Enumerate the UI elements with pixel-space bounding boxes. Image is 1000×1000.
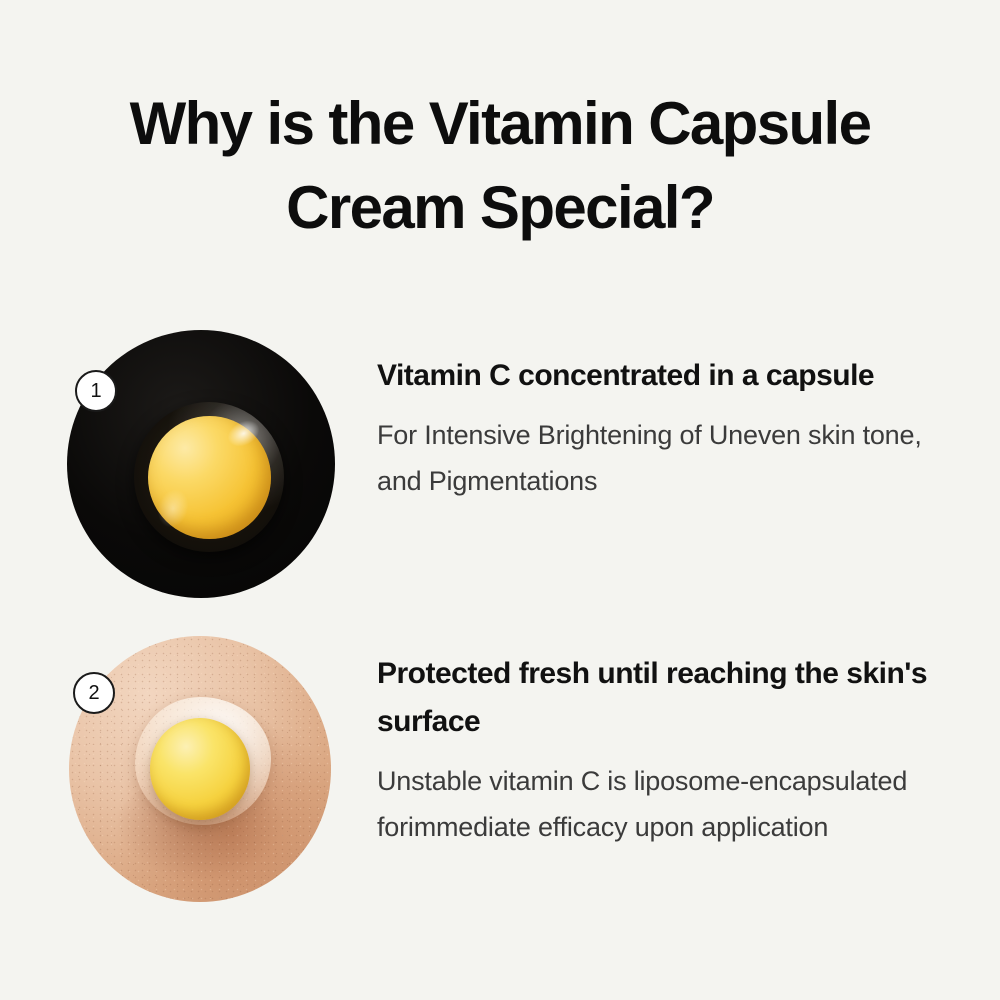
feature-1-heading: Vitamin C concentrated in a capsule xyxy=(377,352,937,400)
step-badge-1: 1 xyxy=(75,370,117,412)
vitamin-capsule-on-black-photo xyxy=(67,330,335,598)
feature-2-heading: Protected fresh until reaching the skin'… xyxy=(377,650,937,746)
capsule-shell xyxy=(134,402,284,552)
page-title-line-1: Why is the Vitamin Capsule xyxy=(60,82,940,166)
page-title: Why is the Vitamin Capsule Cream Special… xyxy=(60,82,940,250)
capsule-core xyxy=(150,718,250,819)
step-badge-2: 2 xyxy=(73,672,115,714)
feature-2-copy: Protected fresh until reaching the skin'… xyxy=(377,650,937,850)
page-title-line-2: Cream Special? xyxy=(60,166,940,250)
feature-1-copy: Vitamin C concentrated in a capsule For … xyxy=(377,352,937,504)
feature-1-media xyxy=(67,330,335,598)
infographic-page: Why is the Vitamin Capsule Cream Special… xyxy=(0,0,1000,1000)
feature-2-media xyxy=(69,636,331,902)
capsule-on-skin-photo xyxy=(69,636,331,902)
feature-1-body: For Intensive Brightening of Uneven skin… xyxy=(377,400,937,504)
feature-2-body: Unstable vitamin C is liposome-encapsula… xyxy=(377,746,937,850)
